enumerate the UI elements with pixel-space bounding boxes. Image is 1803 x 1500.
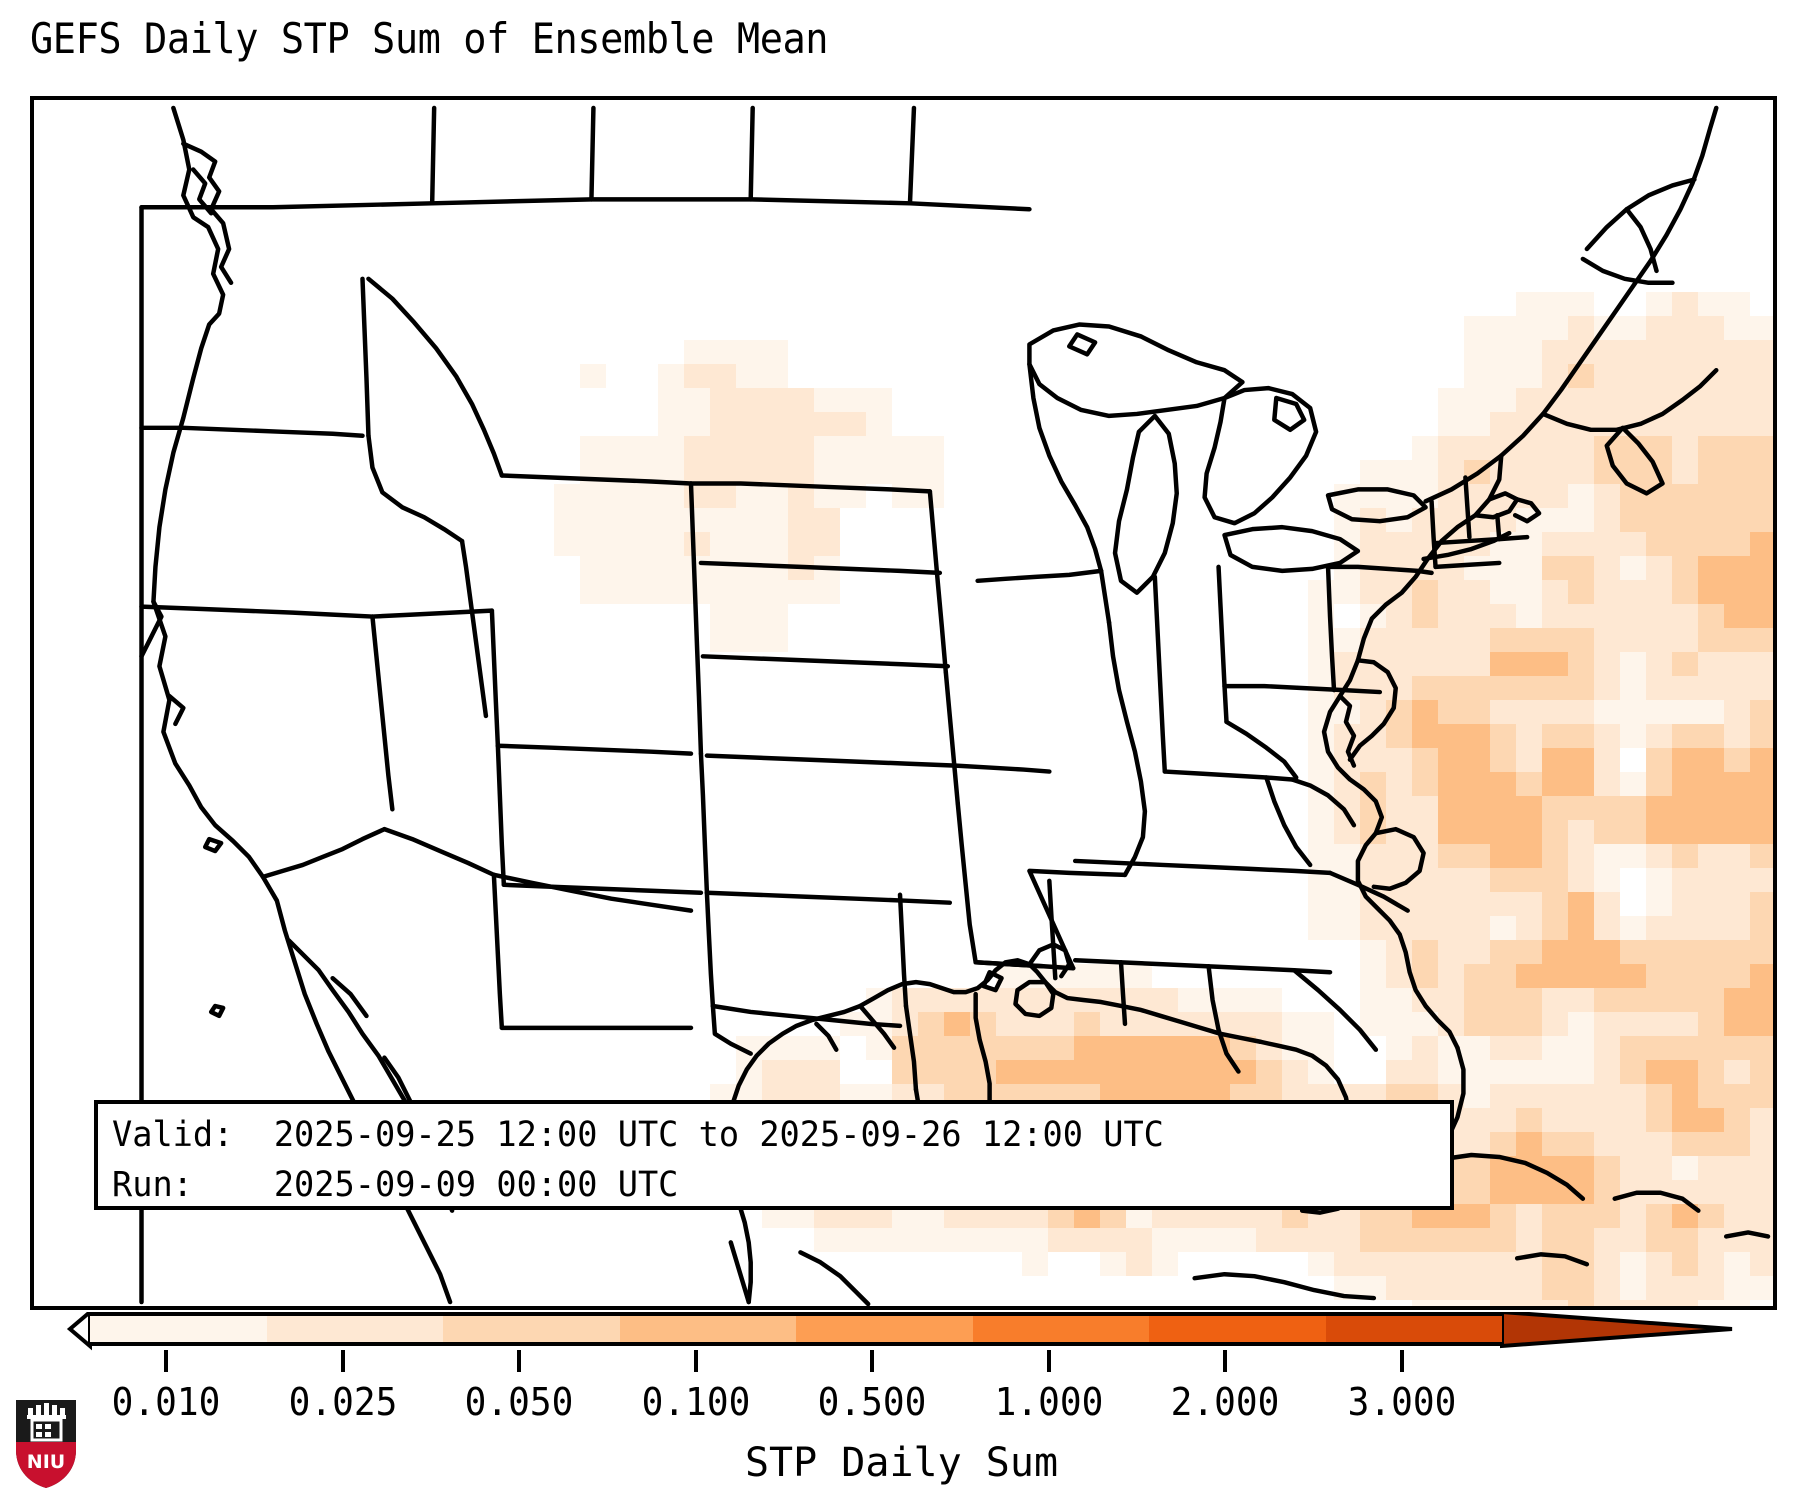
stp-grid-cell xyxy=(1594,1108,1620,1132)
stp-grid-cell xyxy=(1126,964,1152,988)
stp-grid-cell xyxy=(1750,1252,1773,1276)
stp-grid-cell xyxy=(1568,532,1594,556)
niu-logo: NIU xyxy=(14,1398,78,1490)
stp-grid-cell xyxy=(1412,868,1438,892)
stp-grid-cell xyxy=(814,556,840,580)
stp-grid-cell xyxy=(1464,508,1490,532)
stp-grid-cell xyxy=(918,1060,944,1084)
stp-grid-cell xyxy=(1698,340,1724,364)
stp-grid-cell xyxy=(1672,988,1698,1012)
stp-grid-cell xyxy=(1360,844,1386,868)
stp-grid-cell xyxy=(1516,916,1542,940)
stp-grid-cell xyxy=(1386,508,1412,532)
stp-grid-cell xyxy=(1438,484,1464,508)
stp-grid-cell xyxy=(1750,748,1773,772)
stp-grid-cell xyxy=(814,1060,840,1084)
stp-grid-cell xyxy=(1672,700,1698,724)
stp-grid-cell xyxy=(1334,676,1360,700)
stp-grid-cell xyxy=(1620,652,1646,676)
stp-grid-cell xyxy=(866,1036,892,1060)
stp-grid-cell xyxy=(1646,604,1672,628)
stp-grid-cell xyxy=(1698,1156,1724,1180)
stp-grid-cell xyxy=(710,532,736,556)
stp-grid-cell xyxy=(1360,724,1386,748)
stp-grid-cell xyxy=(1516,388,1542,412)
stp-grid-cell xyxy=(1594,1228,1620,1252)
stp-grid-cell xyxy=(840,1012,866,1036)
stp-grid-cell xyxy=(892,460,918,484)
stp-grid-cell xyxy=(1516,628,1542,652)
stp-grid-cell xyxy=(1646,628,1672,652)
stp-grid-cell xyxy=(1204,1060,1230,1084)
stp-grid-cell xyxy=(1438,748,1464,772)
stp-grid-cell xyxy=(1126,1036,1152,1060)
stp-grid-cell xyxy=(710,508,736,532)
stp-grid-cell xyxy=(1022,1252,1048,1276)
stp-grid-cell xyxy=(1412,844,1438,868)
stp-grid-cell xyxy=(632,532,658,556)
stp-grid-cell xyxy=(1152,1252,1178,1276)
stp-grid-cell xyxy=(736,628,762,652)
stp-grid-cell xyxy=(1672,724,1698,748)
stp-grid-cell xyxy=(1750,988,1773,1012)
stp-grid-cell xyxy=(1230,1228,1256,1252)
stp-grid-cell xyxy=(1464,820,1490,844)
stp-grid-cell xyxy=(1542,436,1568,460)
stp-grid-cell xyxy=(736,580,762,604)
stp-grid-cell xyxy=(1308,916,1334,940)
stp-grid-cell xyxy=(1022,964,1048,988)
stp-grid-cell xyxy=(1438,724,1464,748)
stp-grid-cell xyxy=(1568,1036,1594,1060)
stp-grid-cell xyxy=(1594,724,1620,748)
stp-grid-cell xyxy=(1698,676,1724,700)
stp-grid-cell xyxy=(1672,1012,1698,1036)
stp-grid-cell xyxy=(1048,964,1074,988)
stp-grid-cell xyxy=(892,1060,918,1084)
stp-grid-cell xyxy=(1464,1156,1490,1180)
stp-grid-cell xyxy=(1594,508,1620,532)
stp-grid-cell xyxy=(1568,340,1594,364)
stp-grid-cell xyxy=(1646,388,1672,412)
stp-grid-cell xyxy=(1672,1084,1698,1108)
stp-grid-cell xyxy=(1750,1012,1773,1036)
stp-grid-cell xyxy=(1490,1300,1516,1306)
stp-grid-cell xyxy=(1204,1012,1230,1036)
stp-grid-cell xyxy=(1022,1060,1048,1084)
colorbar-tick-0 xyxy=(164,1350,168,1372)
stp-grid-cell xyxy=(1074,1228,1100,1252)
stp-grid-cell xyxy=(1516,460,1542,484)
stp-grid-cell xyxy=(1490,1228,1516,1252)
stp-grid-cell xyxy=(1048,1228,1074,1252)
stp-grid-cell xyxy=(1516,412,1542,436)
stp-grid-cell xyxy=(1672,964,1698,988)
stp-grid-cell xyxy=(1412,1228,1438,1252)
stp-grid-cell xyxy=(1360,940,1386,964)
stp-grid-cell xyxy=(1620,916,1646,940)
stp-grid-cell xyxy=(762,628,788,652)
stp-grid-cell xyxy=(1386,940,1412,964)
stp-grid-cell xyxy=(866,412,892,436)
stp-grid-cell xyxy=(1646,1300,1672,1306)
stp-grid-cell xyxy=(866,388,892,412)
stp-grid-cell xyxy=(1230,1036,1256,1060)
stp-grid-cell xyxy=(1672,1036,1698,1060)
stp-grid-cell xyxy=(1490,388,1516,412)
valid-run-infobox: Valid: 2025-09-25 12:00 UTC to 2025-09-2… xyxy=(94,1100,1454,1210)
stp-grid-cell xyxy=(1672,1060,1698,1084)
run-time-line: Run: 2025-09-09 00:00 UTC xyxy=(112,1160,1383,1210)
stp-grid-cell xyxy=(1256,1060,1282,1084)
stp-grid-cell xyxy=(1490,748,1516,772)
stp-grid-cell xyxy=(814,1228,840,1252)
stp-grid-cell xyxy=(554,484,580,508)
stp-grid-cell xyxy=(996,1012,1022,1036)
stp-grid-cell xyxy=(1698,292,1724,316)
stp-grid-cell xyxy=(736,364,762,388)
stp-grid-cell xyxy=(788,580,814,604)
stp-grid-cell xyxy=(1412,796,1438,820)
stp-grid-cell xyxy=(736,412,762,436)
stp-grid-cell xyxy=(1516,1012,1542,1036)
stp-grid-cell xyxy=(1724,556,1750,580)
stp-grid-cell xyxy=(1412,1060,1438,1084)
colorbar-tick-label-7: 3.000 xyxy=(1347,1380,1456,1424)
stp-grid-cell xyxy=(1386,676,1412,700)
stp-grid-cell xyxy=(1698,916,1724,940)
stp-grid-cell xyxy=(1464,940,1490,964)
stp-grid-cell xyxy=(1594,1060,1620,1084)
stp-grid-cell xyxy=(1542,772,1568,796)
stp-grid-cell xyxy=(658,412,684,436)
stp-grid-cell xyxy=(1750,1180,1773,1204)
stp-grid-cell xyxy=(1542,916,1568,940)
stp-grid-cell xyxy=(580,556,606,580)
stp-grid-cell xyxy=(1542,844,1568,868)
stp-grid-cell xyxy=(1594,916,1620,940)
stp-grid-cell xyxy=(1126,1252,1152,1276)
stp-grid-cell xyxy=(1464,796,1490,820)
stp-grid-cell xyxy=(1672,532,1698,556)
stp-grid-cell xyxy=(1438,1036,1464,1060)
stp-grid-cell xyxy=(1386,1036,1412,1060)
stp-grid-cell xyxy=(1490,1036,1516,1060)
stp-grid-cell xyxy=(1360,460,1386,484)
stp-grid-cell xyxy=(1022,1012,1048,1036)
stp-grid-cell xyxy=(710,556,736,580)
stp-grid-cell xyxy=(1698,364,1724,388)
stp-grid-cell xyxy=(996,964,1022,988)
stp-grid-cell xyxy=(1308,796,1334,820)
stp-grid-cell xyxy=(1516,532,1542,556)
stp-grid-cell xyxy=(1334,1276,1360,1300)
stp-grid-cell xyxy=(1256,1036,1282,1060)
stp-grid-cell xyxy=(1750,940,1773,964)
stp-grid-cell xyxy=(1464,1084,1490,1108)
stp-grid-cell xyxy=(1568,868,1594,892)
stp-grid-cell xyxy=(1568,892,1594,916)
stp-grid-cell xyxy=(1464,1036,1490,1060)
stp-grid-cell xyxy=(1386,580,1412,604)
stp-grid-cell xyxy=(1698,1228,1724,1252)
stp-grid-cell xyxy=(1360,868,1386,892)
stp-grid-cell xyxy=(1750,652,1773,676)
stp-grid-cell xyxy=(1360,700,1386,724)
stp-grid-cell xyxy=(1464,988,1490,1012)
stp-grid-cell xyxy=(1490,364,1516,388)
stp-grid-cell xyxy=(1646,988,1672,1012)
stp-grid-cell xyxy=(1698,1204,1724,1228)
stp-grid-cell xyxy=(1724,724,1750,748)
stp-grid-cell xyxy=(762,604,788,628)
stp-grid-cell xyxy=(762,580,788,604)
stp-grid-cell xyxy=(1256,1228,1282,1252)
stp-grid-cell xyxy=(1750,1156,1773,1180)
stp-grid-cell xyxy=(1594,388,1620,412)
stp-grid-cell xyxy=(1620,580,1646,604)
stp-grid-cell xyxy=(814,436,840,460)
stp-grid-cell xyxy=(1724,580,1750,604)
stp-grid-cell xyxy=(1412,724,1438,748)
stp-grid-cell xyxy=(1724,1084,1750,1108)
stp-grid-cell xyxy=(1438,796,1464,820)
stp-grid-cell xyxy=(1542,364,1568,388)
stp-grid-cell xyxy=(606,532,632,556)
stp-grid-cell xyxy=(1620,724,1646,748)
stp-grid-cell xyxy=(1750,1036,1773,1060)
stp-grid-cell xyxy=(1386,532,1412,556)
stp-grid-cell xyxy=(1386,820,1412,844)
colorbar-band-4 xyxy=(796,1316,973,1342)
stp-grid-cell xyxy=(1724,412,1750,436)
stp-grid-cell xyxy=(1672,1156,1698,1180)
stp-grid-cell xyxy=(1516,964,1542,988)
stp-grid-cell xyxy=(1620,340,1646,364)
stp-grid-cell xyxy=(1516,1084,1542,1108)
stp-grid-cell xyxy=(1568,412,1594,436)
stp-grid-cell xyxy=(1750,964,1773,988)
stp-grid-cell xyxy=(762,484,788,508)
stp-grid-cell xyxy=(944,1036,970,1060)
stp-grid-cell xyxy=(1594,484,1620,508)
stp-grid-cell xyxy=(1438,1252,1464,1276)
stp-grid-cell xyxy=(1698,988,1724,1012)
stp-grid-cell xyxy=(1620,412,1646,436)
stp-grid-cell xyxy=(1438,988,1464,1012)
stp-grid-cell xyxy=(1646,844,1672,868)
stp-grid-cell xyxy=(710,340,736,364)
stp-grid-cell xyxy=(814,412,840,436)
stp-grid-cell xyxy=(1516,892,1542,916)
stp-grid-cell xyxy=(1464,1132,1490,1156)
stp-grid-cell xyxy=(762,364,788,388)
stp-grid-cell xyxy=(1386,844,1412,868)
stp-grid-cell xyxy=(1438,844,1464,868)
stp-grid-cell xyxy=(892,1228,918,1252)
stp-grid-cell xyxy=(1620,604,1646,628)
stp-grid-cell xyxy=(710,436,736,460)
stp-grid-cell xyxy=(1308,820,1334,844)
stp-grid-cell xyxy=(1698,940,1724,964)
stp-grid-cell xyxy=(1490,964,1516,988)
niu-logo-text: NIU xyxy=(27,1451,65,1473)
stp-grid-cell xyxy=(1672,604,1698,628)
stp-grid-cell xyxy=(1178,1036,1204,1060)
colorbar-tick-1 xyxy=(341,1350,345,1372)
stp-grid-cell xyxy=(1646,700,1672,724)
stp-grid-cell xyxy=(1412,556,1438,580)
stp-grid-cell xyxy=(1594,1132,1620,1156)
stp-grid-cell xyxy=(892,1036,918,1060)
stp-grid-cell xyxy=(788,436,814,460)
stp-grid-cell xyxy=(1724,652,1750,676)
stp-grid-cell xyxy=(1464,676,1490,700)
stp-grid-cell xyxy=(762,388,788,412)
stp-grid-cell xyxy=(1542,1108,1568,1132)
stp-grid-cell xyxy=(1568,1276,1594,1300)
stp-grid-cell xyxy=(918,460,944,484)
stp-grid-cell xyxy=(1438,628,1464,652)
stp-grid-cell xyxy=(1438,1228,1464,1252)
stp-grid-cell xyxy=(918,988,944,1012)
stp-grid-cell xyxy=(1594,1300,1620,1306)
stp-grid-cell xyxy=(1646,292,1672,316)
stp-grid-cell xyxy=(1750,676,1773,700)
stp-grid-cell xyxy=(1594,1252,1620,1276)
stp-grid-cell xyxy=(1568,604,1594,628)
stp-grid-cell xyxy=(1672,772,1698,796)
stp-grid-cell xyxy=(1048,1036,1074,1060)
stp-grid-cell xyxy=(658,484,684,508)
stp-grid-cell xyxy=(1698,556,1724,580)
stp-grid-cell xyxy=(1542,1012,1568,1036)
stp-grid-cell xyxy=(788,1060,814,1084)
stp-grid-cell xyxy=(1516,676,1542,700)
stp-grid-cell xyxy=(788,484,814,508)
stp-grid-cell xyxy=(1360,580,1386,604)
stp-grid-cell xyxy=(1360,892,1386,916)
stp-grid-cell xyxy=(1724,484,1750,508)
stp-grid-cell xyxy=(1646,508,1672,532)
stp-grid-cell xyxy=(606,508,632,532)
stp-grid-cell xyxy=(1490,892,1516,916)
stp-grid-cell xyxy=(1542,796,1568,820)
stp-grid-cell xyxy=(1438,868,1464,892)
stp-grid-cell xyxy=(1646,316,1672,340)
stp-grid-cell xyxy=(1620,1060,1646,1084)
stp-grid-cell xyxy=(684,364,710,388)
stp-grid-cell xyxy=(1516,1108,1542,1132)
stp-grid-cell xyxy=(1048,1012,1074,1036)
stp-grid-cell xyxy=(606,556,632,580)
stp-grid-cell xyxy=(1516,700,1542,724)
stp-grid-cell xyxy=(762,532,788,556)
stp-grid-cell xyxy=(1724,340,1750,364)
stp-grid-cell xyxy=(1464,964,1490,988)
stp-grid-cell xyxy=(1412,1276,1438,1300)
stp-grid-cell xyxy=(840,436,866,460)
stp-grid-cell xyxy=(1490,604,1516,628)
stp-grid-cell xyxy=(1516,1204,1542,1228)
colorbar-tick-2 xyxy=(517,1350,521,1372)
stp-grid-cell xyxy=(1646,412,1672,436)
stp-grid-cell xyxy=(1412,1012,1438,1036)
stp-grid-cell xyxy=(736,340,762,364)
stp-grid-cell xyxy=(814,508,840,532)
stp-grid-cell xyxy=(1620,436,1646,460)
stp-grid-cell xyxy=(1516,340,1542,364)
stp-grid-cell xyxy=(1750,1204,1773,1228)
stp-grid-cell xyxy=(1620,1108,1646,1132)
stp-grid-cell xyxy=(1438,940,1464,964)
stp-grid-cell xyxy=(1386,724,1412,748)
stp-grid-cell xyxy=(1516,772,1542,796)
stp-grid-cell xyxy=(1438,652,1464,676)
stp-grid-cell xyxy=(1490,868,1516,892)
stp-grid-cell xyxy=(1516,292,1542,316)
stp-grid-cell xyxy=(1464,556,1490,580)
stp-grid-cell xyxy=(1490,460,1516,484)
stp-grid-cell xyxy=(710,628,736,652)
stp-grid-cell xyxy=(1386,652,1412,676)
stp-grid-cell xyxy=(1386,460,1412,484)
stp-grid-cell xyxy=(1022,1228,1048,1252)
stp-grid-cell xyxy=(1594,676,1620,700)
colorbar[interactable] xyxy=(0,1312,1803,1352)
stp-grid-cell xyxy=(1750,556,1773,580)
stp-grid-cell xyxy=(1334,748,1360,772)
stp-grid-cell xyxy=(1594,580,1620,604)
stp-grid-cell xyxy=(1516,436,1542,460)
stp-grid-cell xyxy=(1594,796,1620,820)
stp-grid-cell xyxy=(1386,796,1412,820)
stp-grid-cell xyxy=(1438,964,1464,988)
stp-grid-cell xyxy=(1672,916,1698,940)
stp-grid-cell xyxy=(1438,1276,1464,1300)
colorbar-over-arrow xyxy=(1502,1312,1732,1346)
stp-grid-cell xyxy=(606,580,632,604)
stp-grid-cell xyxy=(684,532,710,556)
stp-grid-cell xyxy=(1438,460,1464,484)
stp-grid-cell xyxy=(736,1036,762,1060)
colorbar-tick-label-3: 0.100 xyxy=(641,1380,750,1424)
stp-grid-cell xyxy=(1542,1300,1568,1306)
stp-grid-cell xyxy=(1698,868,1724,892)
stp-grid-cell xyxy=(1568,1252,1594,1276)
stp-grid-cell xyxy=(1360,916,1386,940)
stp-grid-cell xyxy=(1672,484,1698,508)
stp-grid-cell xyxy=(1542,1060,1568,1084)
stp-grid-cell xyxy=(1464,652,1490,676)
colorbar-tick-3 xyxy=(694,1350,698,1372)
stp-grid-cell xyxy=(632,508,658,532)
stp-grid-cell xyxy=(1516,316,1542,340)
stp-grid-cell xyxy=(658,460,684,484)
stp-grid-cell xyxy=(1438,892,1464,916)
stp-grid-cell xyxy=(1438,916,1464,940)
stp-grid-cell xyxy=(1594,1204,1620,1228)
stp-grid-cell xyxy=(1542,628,1568,652)
stp-grid-cell xyxy=(1542,460,1568,484)
stp-grid-cell xyxy=(1724,1132,1750,1156)
stp-grid-cell xyxy=(554,508,580,532)
stp-grid-cell xyxy=(1542,724,1568,748)
stp-grid-cell xyxy=(1620,988,1646,1012)
stp-grid-cell xyxy=(1568,1084,1594,1108)
stp-grid-cell xyxy=(788,388,814,412)
stp-grid-cell xyxy=(1542,1036,1568,1060)
